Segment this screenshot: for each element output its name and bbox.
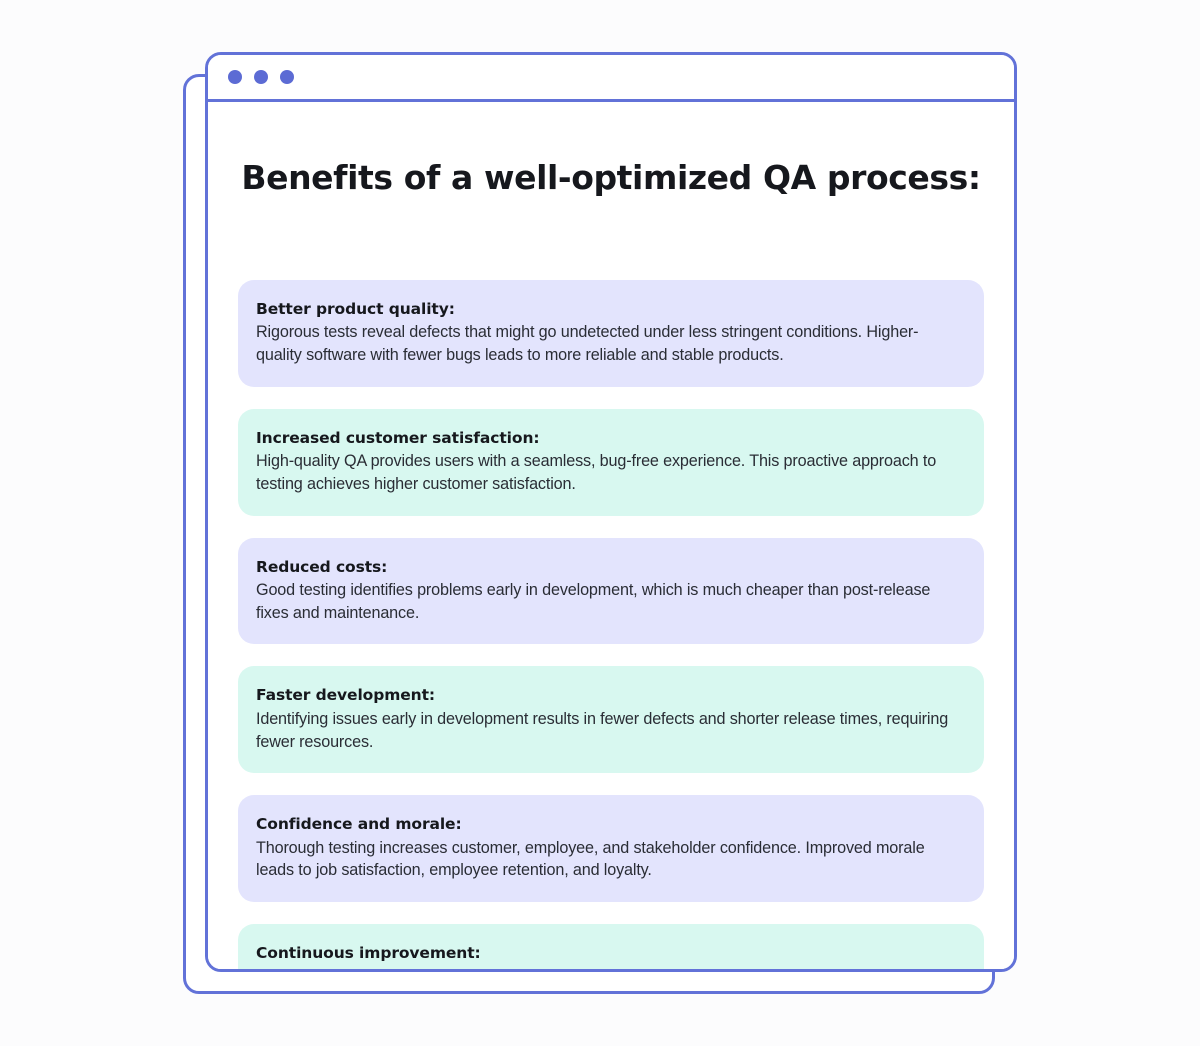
benefit-card-confidence-and-morale: Confidence and morale: Thorough testing … bbox=[238, 795, 984, 902]
window-content-area: Benefits of a well-optimized QA process:… bbox=[208, 102, 1014, 969]
page-title: Benefits of a well-optimized QA process: bbox=[208, 158, 1014, 197]
benefit-card-title: Increased customer satisfaction: bbox=[256, 427, 960, 449]
maximize-dot-icon[interactable] bbox=[280, 70, 294, 84]
benefit-card-reduced-costs: Reduced costs: Good testing identifies p… bbox=[238, 538, 984, 645]
benefits-card-list: Better product quality: Rigorous tests r… bbox=[238, 280, 984, 972]
benefit-card-better-product-quality: Better product quality: Rigorous tests r… bbox=[238, 280, 984, 387]
benefit-card-title: Faster development: bbox=[256, 684, 960, 706]
benefit-card-body: Rigorous tests reveal defects that might… bbox=[256, 321, 960, 366]
window-titlebar bbox=[208, 55, 1014, 102]
traffic-light-dots bbox=[228, 70, 294, 84]
benefit-card-title: Continuous improvement: bbox=[256, 942, 960, 964]
close-dot-icon[interactable] bbox=[228, 70, 242, 84]
browser-window: Benefits of a well-optimized QA process:… bbox=[205, 52, 1017, 972]
benefit-card-body: Identifying issues early in development … bbox=[256, 708, 960, 753]
benefit-card-title: Better product quality: bbox=[256, 298, 960, 320]
benefit-card-continuous-improvement: Continuous improvement: An optimized QA … bbox=[238, 924, 984, 972]
minimize-dot-icon[interactable] bbox=[254, 70, 268, 84]
benefit-card-body: High-quality QA provides users with a se… bbox=[256, 450, 960, 495]
benefit-card-title: Reduced costs: bbox=[256, 556, 960, 578]
illustration-stage: Benefits of a well-optimized QA process:… bbox=[0, 0, 1200, 1046]
benefit-card-body: An optimized QA process regularly enhanc… bbox=[256, 966, 960, 972]
benefit-card-title: Confidence and morale: bbox=[256, 813, 960, 835]
benefit-card-increased-customer-satisfaction: Increased customer satisfaction: High-qu… bbox=[238, 409, 984, 516]
benefit-card-body: Good testing identifies problems early i… bbox=[256, 579, 960, 624]
benefit-card-faster-development: Faster development: Identifying issues e… bbox=[238, 666, 984, 773]
benefit-card-body: Thorough testing increases customer, emp… bbox=[256, 837, 960, 882]
